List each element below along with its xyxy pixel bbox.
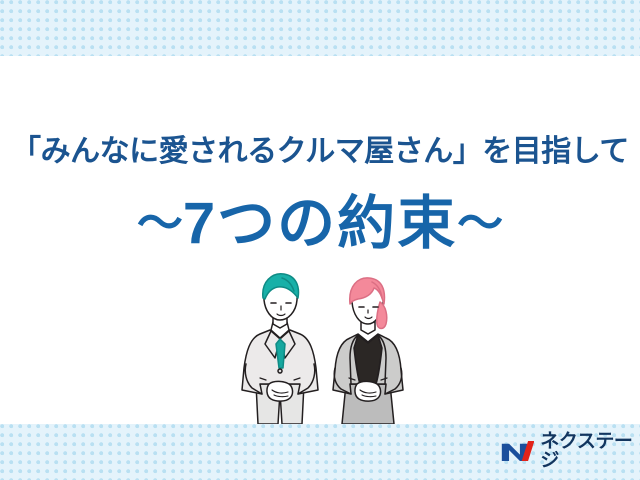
tilde-right-glyph: ～ [457,197,503,249]
tilde-left-glyph: ～ [137,197,183,249]
brand-logo-text: ネクステージ [540,432,640,470]
figure-man [242,274,318,424]
brand-logo: ネクステージ [500,436,640,466]
page-title: 「みんなに愛されるクルマ屋さん」を目指して [0,126,640,170]
subtitle-core-text: 7つの約束 [183,191,457,256]
figure-woman [333,278,403,424]
top-dot-banner [0,0,640,56]
bowing-staff-illustration [238,272,414,424]
promo-slide: 「みんなに愛されるクルマ屋さん」を目指して ～7つの約束～ [0,0,640,480]
nextage-n-mark [500,438,534,464]
page-subtitle: ～7つの約束～ [0,176,640,260]
